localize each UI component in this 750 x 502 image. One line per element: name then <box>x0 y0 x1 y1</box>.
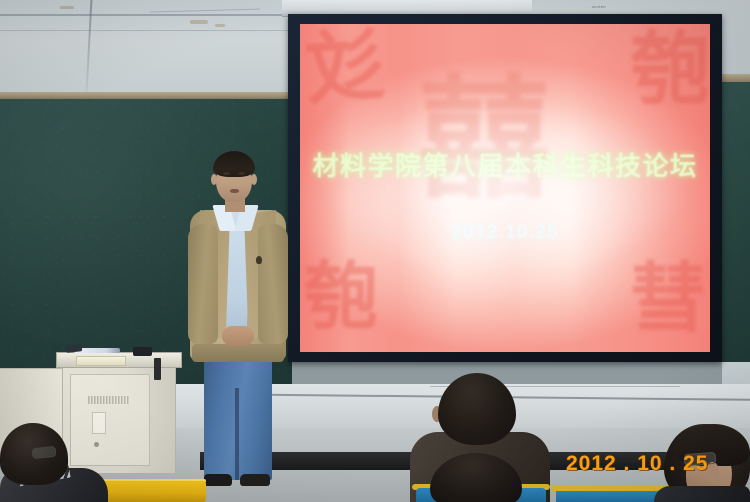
roller-label: screen <box>592 4 606 9</box>
speaker-shoe-right <box>240 474 270 486</box>
wall-stain <box>60 6 74 9</box>
speaker-sleeve-left <box>188 224 218 344</box>
wall-stain <box>215 24 225 27</box>
speaker-jacket-hem <box>192 344 284 362</box>
speaker-hair <box>213 151 255 177</box>
speaker-figure <box>176 148 302 488</box>
speaker-eye-right <box>238 172 245 175</box>
audience-right-shoulder <box>654 486 750 502</box>
speaker-eye-left <box>223 172 230 175</box>
chair-back-right-trim <box>552 486 670 491</box>
slide-date: 2012.10.25 <box>300 222 710 244</box>
blackboard-right <box>722 82 750 362</box>
speaker-hands <box>222 326 254 346</box>
podium-label-plate <box>92 412 106 434</box>
slide-title: 材料学院第八届本科生科技论坛 <box>300 146 710 183</box>
podium-knob <box>94 442 99 447</box>
photograph: screen 彣 匏 囍 匏 彗 材料学院第八届本科生科技论坛 2012.10.… <box>0 0 750 502</box>
seal-motif-bottom-right-icon: 彗 <box>630 262 706 338</box>
podium-papers <box>76 356 126 366</box>
seal-motif-center-icon: 囍 <box>418 74 544 206</box>
projection-screen-surface: 彣 匏 囍 匏 彗 材料学院第八届本科生科技论坛 2012.10.25 <box>300 24 710 352</box>
speaker-ear-right <box>251 174 257 185</box>
speaker-mouth <box>230 189 239 193</box>
podium-edge-trim <box>154 358 161 380</box>
chair-back-right <box>556 490 666 502</box>
speaker-jeans-inseam <box>235 388 239 480</box>
blackboard-top-trim <box>0 92 290 99</box>
seal-motif-top-left-icon: 彣 <box>303 25 386 108</box>
right-blackboard-trim <box>722 74 750 82</box>
right-wall-strip <box>722 0 750 74</box>
seal-motif-top-right-icon: 匏 <box>630 30 710 110</box>
podium-black-object <box>133 347 152 356</box>
wall-stain <box>190 20 208 24</box>
projection-screen-frame: 彣 匏 囍 匏 彗 材料学院第八届本科生科技论坛 2012.10.25 <box>288 14 722 362</box>
ceiling-seam-line-secondary <box>0 30 300 31</box>
speaker-ear-left <box>211 174 217 185</box>
speaker-shoe-left <box>204 474 232 486</box>
camera-timestamp: 2012 . 10 . 25 <box>566 452 708 476</box>
podium-vent <box>88 396 130 404</box>
podium-door <box>70 374 150 466</box>
speaker-jacket-logo-icon <box>256 256 262 264</box>
wall-crack-secondary <box>150 9 260 13</box>
seal-motif-bottom-left-icon: 匏 <box>304 260 378 334</box>
speaker-sleeve-right <box>258 224 288 344</box>
